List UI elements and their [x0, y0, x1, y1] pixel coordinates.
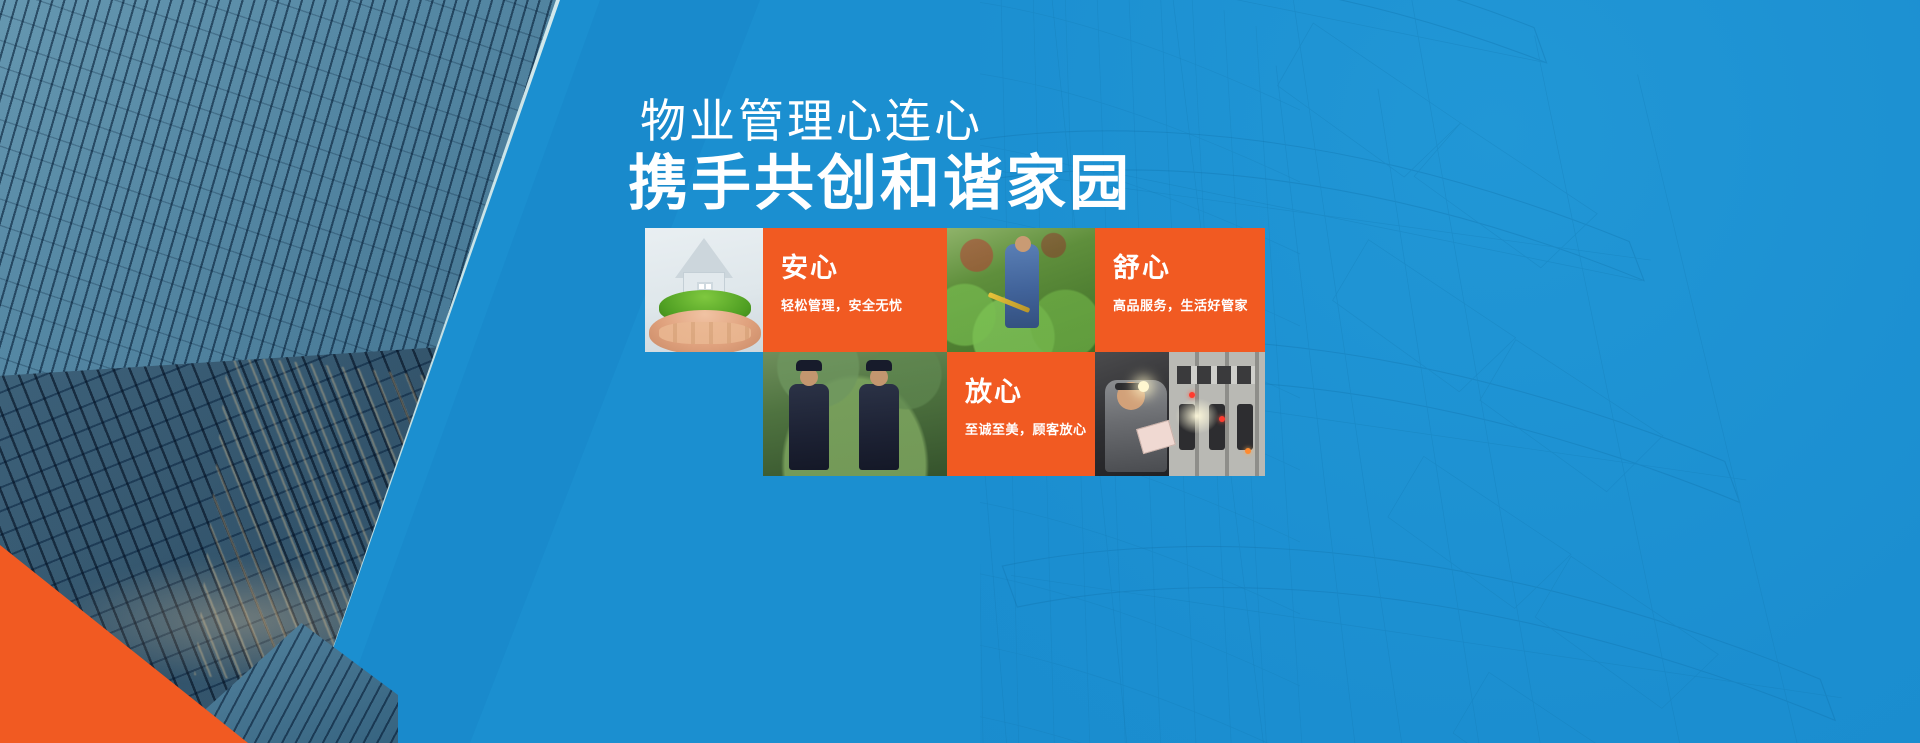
cupped-hands [649, 310, 761, 352]
tile-fangxin-title: 放心 [965, 378, 1085, 408]
tile-anxin-text: 安心 轻松管理，安全无忧 [781, 254, 937, 313]
tile-anxin-subtitle: 轻松管理，安全无忧 [781, 298, 937, 314]
tile-shuxin-subtitle: 高品服务，生活好管家 [1113, 298, 1255, 314]
tile-shuxin-text: 舒心 高品服务，生活好管家 [1113, 254, 1255, 313]
tile-fangxin: 放心 至诚至美，顾客放心 [947, 352, 1095, 476]
panel-indicator-led [1245, 448, 1251, 454]
security-guard-1 [789, 384, 829, 470]
headline-line-2: 携手共创和谐家园 [628, 152, 1348, 217]
tile-shuxin: 舒心 高品服务，生活好管家 [1095, 228, 1265, 352]
panel-indicator-led [1219, 416, 1225, 422]
security-guard-2 [859, 384, 899, 470]
gardener-uniform [1005, 244, 1039, 328]
panel-light-glow [1175, 398, 1219, 434]
tile-fangxin-subtitle: 至诚至美，顾客放心 [965, 422, 1085, 438]
property-management-banner: 物业管理心连心 携手共创和谐家园 安心 轻松管理，安全无忧 舒心 [0, 0, 1920, 743]
headlamp-icon [1115, 383, 1147, 390]
headline-line-1: 物业管理心连心 [640, 96, 1348, 148]
feature-tile-grid: 安心 轻松管理，安全无忧 舒心 高品服务，生活好管家 放心 至诚至美，顾客放心 [645, 228, 1265, 476]
headline-block: 物业管理心连心 携手共创和谐家园 [628, 96, 1348, 216]
tile-electrician-photo [1095, 352, 1265, 476]
tile-fangxin-text: 放心 至诚至美，顾客放心 [965, 378, 1085, 437]
tile-shuxin-title: 舒心 [1113, 254, 1255, 284]
tile-hands-holding-green-house [645, 228, 763, 352]
gardener-head [1015, 236, 1031, 252]
tile-gardener-photo [947, 228, 1095, 352]
tile-anxin-title: 安心 [781, 254, 937, 284]
tile-security-guards-photo [763, 352, 947, 476]
tile-anxin: 安心 轻松管理，安全无忧 [763, 228, 947, 352]
panel-indicator-led [1189, 392, 1195, 398]
